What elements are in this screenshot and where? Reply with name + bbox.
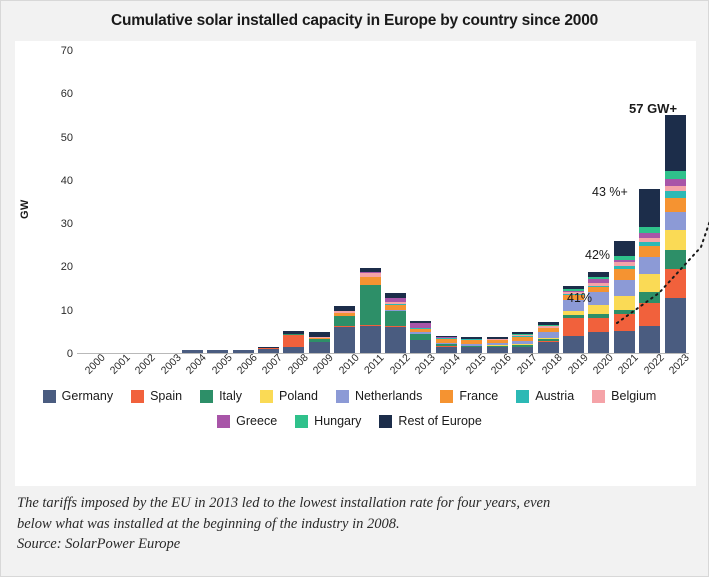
bar-segment (385, 311, 406, 327)
x-tick-label: 2019 (565, 352, 590, 377)
bar-segment (639, 246, 660, 257)
bar-segment (588, 332, 609, 353)
legend-swatch-icon (43, 390, 56, 403)
y-tick-label: 0 (37, 348, 73, 360)
bar-column[interactable] (360, 268, 381, 353)
x-tick-label: 2018 (540, 352, 565, 377)
legend-row-1: GermanySpainItalyPolandNetherlandsFrance… (15, 389, 696, 403)
bar-segment (360, 285, 381, 325)
legend-swatch-icon (379, 415, 392, 428)
bar-segment (334, 316, 355, 326)
bar-segment (563, 336, 584, 353)
legend-label: Hungary (314, 414, 361, 428)
x-tick-label: 2014 (438, 352, 463, 377)
bar-column[interactable] (334, 306, 355, 353)
bar-segment (665, 250, 686, 269)
footnote: The tariffs imposed by the EU in 2013 le… (17, 493, 693, 555)
chart-figure: Cumulative solar installed capacity in E… (0, 0, 709, 577)
x-tick-label: 2013 (413, 352, 438, 377)
x-tick-label: 2007 (260, 352, 285, 377)
bar-segment (588, 305, 609, 315)
bar-column[interactable] (461, 337, 482, 353)
legend-swatch-icon (336, 390, 349, 403)
bar-segment (614, 314, 635, 330)
bar-segment (639, 303, 660, 326)
x-tick-label: 2015 (464, 352, 489, 377)
legend-swatch-icon (200, 390, 213, 403)
y-axis-ticks: 010203040506070 (33, 41, 73, 354)
annotation-57-gw-plus: 57 GW+ (629, 101, 677, 116)
y-tick-label: 30 (37, 218, 73, 230)
y-axis-label: GW (19, 199, 31, 219)
legend-swatch-icon (516, 390, 529, 403)
x-tick-label: 2003 (159, 352, 184, 377)
x-tick-label: 2017 (514, 352, 539, 377)
legend-item[interactable]: Hungary (295, 414, 361, 428)
bar-segment (385, 327, 406, 353)
legend-label: Poland (279, 389, 318, 403)
legend-swatch-icon (592, 390, 605, 403)
bar-segment (360, 326, 381, 353)
bar-segment (665, 230, 686, 250)
bar-series-container (77, 50, 689, 353)
bar-column[interactable] (385, 293, 406, 353)
bar-segment (614, 241, 635, 255)
bar-segment (639, 274, 660, 293)
x-tick-label: 2016 (489, 352, 514, 377)
legend-label: Netherlands (355, 389, 422, 403)
legend-item[interactable]: Germany (43, 389, 113, 403)
annotation-41: 41% (567, 291, 592, 305)
bar-column[interactable] (639, 189, 660, 353)
bar-segment (614, 280, 635, 296)
bar-column[interactable] (588, 272, 609, 353)
bar-segment (360, 277, 381, 284)
x-tick-label: 2020 (591, 352, 616, 377)
legend-item[interactable]: Greece (217, 414, 277, 428)
bar-column[interactable] (538, 322, 559, 353)
y-tick-label: 40 (37, 175, 73, 187)
annotation-43-plus: 43 %+ (592, 185, 628, 199)
x-tick-label: 2004 (184, 352, 209, 377)
x-tick-label: 2001 (108, 352, 133, 377)
chart-legend: GermanySpainItalyPolandNetherlandsFrance… (15, 389, 696, 439)
legend-row-2: GreeceHungaryRest of Europe (15, 414, 696, 428)
bar-segment (334, 327, 355, 353)
x-tick-label: 2012 (387, 352, 412, 377)
bar-column[interactable] (512, 332, 533, 353)
bar-segment (639, 189, 660, 227)
x-tick-label: 2021 (616, 352, 641, 377)
plot-area (77, 51, 689, 354)
legend-item[interactable]: Spain (131, 389, 182, 403)
legend-label: Italy (219, 389, 242, 403)
bar-segment (614, 331, 635, 354)
legend-label: Germany (62, 389, 113, 403)
bar-column[interactable] (614, 241, 635, 353)
y-tick-label: 60 (37, 88, 73, 100)
footnote-line-2: below what was installed at the beginnin… (17, 514, 693, 535)
bar-segment (614, 269, 635, 281)
x-tick-label: 2010 (336, 352, 361, 377)
legend-swatch-icon (131, 390, 144, 403)
annotation-42: 42% (585, 248, 610, 262)
bar-segment (665, 212, 686, 230)
legend-label: Greece (236, 414, 277, 428)
bar-column[interactable] (309, 332, 330, 353)
footnote-source: Source: SolarPower Europe (17, 534, 693, 555)
bar-column[interactable] (283, 331, 304, 353)
bar-segment (665, 115, 686, 171)
legend-item[interactable]: Netherlands (336, 389, 422, 403)
legend-label: Rest of Europe (398, 414, 481, 428)
legend-item[interactable]: Rest of Europe (379, 414, 481, 428)
legend-swatch-icon (217, 415, 230, 428)
y-tick-label: 10 (37, 305, 73, 317)
footnote-line-1: The tariffs imposed by the EU in 2013 le… (17, 493, 693, 514)
legend-item[interactable]: Italy (200, 389, 242, 403)
x-tick-label: 2002 (133, 352, 158, 377)
x-tick-label: 2006 (235, 352, 260, 377)
bar-segment (639, 292, 660, 303)
bar-segment (665, 179, 686, 186)
bar-segment (665, 191, 686, 198)
bar-segment (588, 318, 609, 332)
legend-label: France (459, 389, 498, 403)
plot-wrapper: GW 010203040506070 200020012002200320042… (15, 41, 696, 386)
legend-label: Spain (150, 389, 182, 403)
bar-segment (639, 257, 660, 274)
y-tick-label: 50 (37, 132, 73, 144)
legend-label: Belgium (611, 389, 656, 403)
bar-segment (639, 326, 660, 353)
y-tick-label: 20 (37, 261, 73, 273)
x-tick-label: 2008 (286, 352, 311, 377)
y-tick-label: 70 (37, 45, 73, 57)
legend-item[interactable]: Poland (260, 389, 318, 403)
bar-segment (563, 318, 584, 336)
bar-segment (283, 335, 304, 346)
bar-segment (665, 269, 686, 298)
chart-panel: GW 010203040506070 200020012002200320042… (15, 41, 696, 486)
legend-item[interactable]: Austria (516, 389, 574, 403)
legend-label: Austria (535, 389, 574, 403)
legend-item[interactable]: France (440, 389, 498, 403)
x-tick-label: 2022 (642, 352, 667, 377)
bar-segment (665, 298, 686, 353)
x-tick-label: 2011 (362, 352, 386, 376)
bar-segment (614, 296, 635, 310)
bar-segment (665, 171, 686, 178)
chart-title: Cumulative solar installed capacity in E… (1, 1, 708, 30)
bar-segment (665, 198, 686, 212)
bar-column[interactable] (665, 115, 686, 353)
x-tick-label: 2005 (209, 352, 234, 377)
legend-swatch-icon (295, 415, 308, 428)
legend-swatch-icon (440, 390, 453, 403)
bar-column[interactable] (410, 321, 431, 353)
legend-item[interactable]: Belgium (592, 389, 656, 403)
x-tick-label: 2023 (667, 352, 692, 377)
x-tick-label: 2000 (82, 352, 107, 377)
legend-swatch-icon (260, 390, 273, 403)
x-tick-label: 2009 (311, 352, 336, 377)
